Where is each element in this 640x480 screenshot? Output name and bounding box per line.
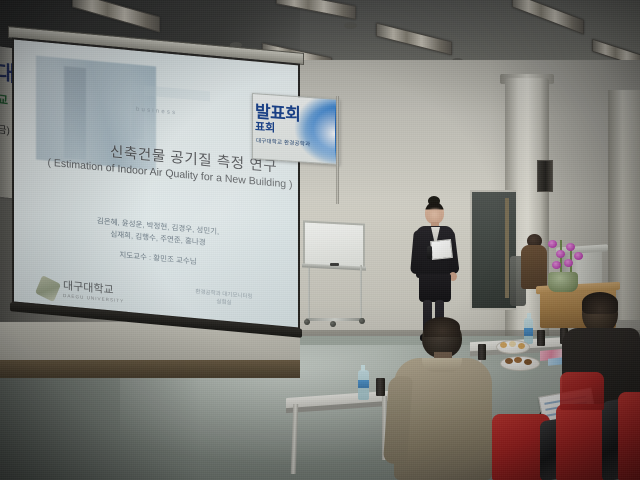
presenter-skirt xyxy=(419,274,451,302)
banner-right-line2: 표회 xyxy=(255,118,275,135)
slide-university-logo: 대구대학교 DAEGU UNIVERSITY xyxy=(38,278,124,306)
daegu-university-logo-mark xyxy=(35,275,61,302)
bottle-label xyxy=(358,380,369,388)
banner-support-pole xyxy=(336,96,339,204)
seated-host xyxy=(521,234,547,290)
orchid-bloom xyxy=(566,243,575,251)
ceiling-recessed-downlight xyxy=(344,22,357,29)
whiteboard-caster xyxy=(330,321,336,327)
whiteboard-caster xyxy=(304,319,310,325)
orchid-bloom xyxy=(564,259,573,267)
presenter-handout-papers xyxy=(430,239,453,260)
photo-scene: 대 교 . (금) business 신축건물 공기질 측정 연구 ( Esti… xyxy=(0,0,640,480)
orchid-stem xyxy=(560,240,562,276)
snack-item xyxy=(500,342,507,348)
whiteboard-base xyxy=(306,318,364,321)
presenter-microphone xyxy=(427,246,432,259)
slide-lab-credit: 환경공학과 대기모니터링 실험실 xyxy=(164,285,284,312)
orchid-bloom xyxy=(574,252,583,260)
orchid-pot xyxy=(548,272,578,292)
screen-surface: business 신축건물 공기질 측정 연구 ( Estimation of … xyxy=(12,37,300,329)
door-frame-edge xyxy=(505,198,509,298)
orchid-bloom xyxy=(556,250,565,258)
audience-front-collar xyxy=(422,358,462,372)
whiteboard-marker[interactable] xyxy=(330,263,339,266)
seated-host-body xyxy=(521,245,547,289)
whiteboard-leg xyxy=(360,265,362,320)
audience-front-hair xyxy=(424,317,460,337)
audience-member-front xyxy=(388,318,498,480)
banner-swoosh-highlight xyxy=(305,104,335,162)
snack-item xyxy=(509,341,516,347)
wall-speaker xyxy=(537,160,553,192)
projection-screen: business 신축건물 공기질 측정 연구 ( Estimation of … xyxy=(8,26,304,353)
stage-front-edge xyxy=(0,360,300,378)
audience-right-hair xyxy=(582,292,618,314)
orchid-bloom xyxy=(552,261,561,269)
banner-right: 발표회 표회 대구대학교 환경공학과 xyxy=(252,93,340,165)
orchid-bloom xyxy=(548,240,557,248)
presenter-face xyxy=(428,209,442,222)
whiteboard-caster xyxy=(359,318,365,324)
auditorium-seat[interactable] xyxy=(618,392,640,480)
beverage-can[interactable] xyxy=(376,378,385,396)
auditorium-seat[interactable] xyxy=(560,372,604,410)
whiteboard-leg xyxy=(308,268,310,320)
water-bottle[interactable] xyxy=(358,370,369,400)
snack-item xyxy=(505,358,513,364)
